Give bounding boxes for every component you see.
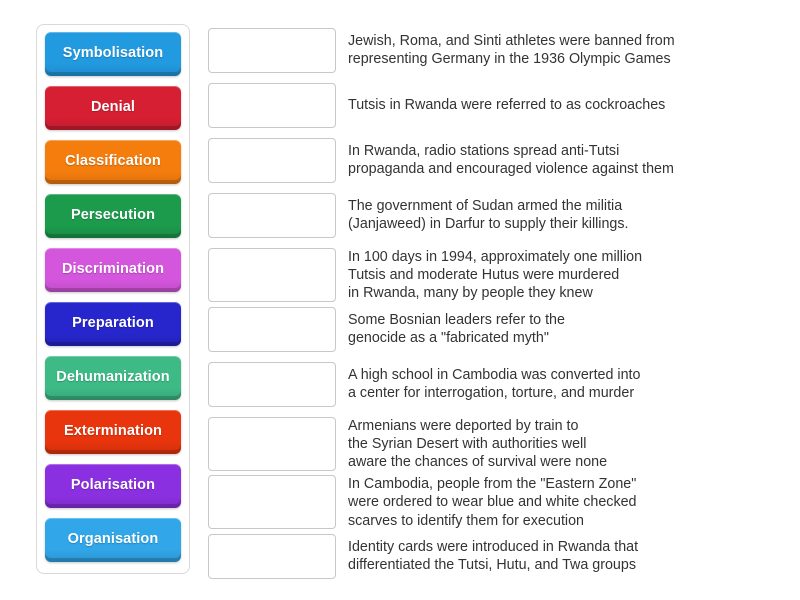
answer-row: In Cambodia, people from the "Eastern Zo… (208, 475, 768, 530)
tile-label: Organisation (65, 532, 162, 548)
prompt-text: Identity cards were introduced in Rwanda… (348, 534, 768, 574)
answer-rows-panel: Jewish, Roma, and Sinti athletes were ba… (208, 28, 768, 579)
tile-draggable[interactable]: Denial (45, 86, 181, 130)
dropzone[interactable] (208, 534, 336, 579)
tile-draggable[interactable]: Organisation (45, 518, 181, 562)
tile-label: Symbolisation (60, 46, 166, 62)
tiles-panel: Symbolisation Denial Classification Pers… (36, 24, 190, 574)
tile-draggable[interactable]: Symbolisation (45, 32, 181, 76)
dropzone[interactable] (208, 248, 336, 302)
tile-draggable[interactable]: Classification (45, 140, 181, 184)
answer-row: Some Bosnian leaders refer to the genoci… (208, 307, 768, 352)
dropzone[interactable] (208, 362, 336, 407)
dropzone[interactable] (208, 138, 336, 183)
tile-label: Dehumanization (53, 370, 172, 386)
dropzone[interactable] (208, 28, 336, 73)
prompt-text: The government of Sudan armed the militi… (348, 193, 768, 233)
answer-row: Jewish, Roma, and Sinti athletes were ba… (208, 28, 768, 73)
dropzone[interactable] (208, 307, 336, 352)
tile-draggable[interactable]: Extermination (45, 410, 181, 454)
tile-label: Persecution (68, 208, 158, 224)
answer-row: Armenians were deported by train to the … (208, 417, 768, 472)
answer-row: The government of Sudan armed the militi… (208, 193, 768, 238)
prompt-text: In Cambodia, people from the "Eastern Zo… (348, 475, 768, 530)
tile-label: Extermination (61, 424, 165, 440)
activity-stage: Symbolisation Denial Classification Pers… (0, 0, 800, 600)
answer-row: Tutsis in Rwanda were referred to as coc… (208, 83, 768, 128)
tile-draggable[interactable]: Polarisation (45, 464, 181, 508)
answer-row: In Rwanda, radio stations spread anti-Tu… (208, 138, 768, 183)
prompt-text: In 100 days in 1994, approximately one m… (348, 248, 768, 303)
tile-label: Discrimination (59, 262, 167, 278)
answer-row: A high school in Cambodia was converted … (208, 362, 768, 407)
answer-row: In 100 days in 1994, approximately one m… (208, 248, 768, 303)
answer-row: Identity cards were introduced in Rwanda… (208, 534, 768, 579)
prompt-text: In Rwanda, radio stations spread anti-Tu… (348, 138, 768, 178)
dropzone[interactable] (208, 475, 336, 529)
tile-label: Polarisation (68, 478, 158, 494)
tile-label: Classification (62, 154, 164, 170)
dropzone[interactable] (208, 193, 336, 238)
dropzone[interactable] (208, 83, 336, 128)
prompt-text: Tutsis in Rwanda were referred to as coc… (348, 83, 768, 114)
tile-draggable[interactable]: Dehumanization (45, 356, 181, 400)
prompt-text: A high school in Cambodia was converted … (348, 362, 768, 402)
tile-draggable[interactable]: Persecution (45, 194, 181, 238)
tile-label: Preparation (69, 316, 157, 332)
tile-draggable[interactable]: Preparation (45, 302, 181, 346)
prompt-text: Some Bosnian leaders refer to the genoci… (348, 307, 768, 347)
tile-draggable[interactable]: Discrimination (45, 248, 181, 292)
dropzone[interactable] (208, 417, 336, 471)
prompt-text: Jewish, Roma, and Sinti athletes were ba… (348, 28, 768, 68)
tile-label: Denial (88, 100, 138, 116)
prompt-text: Armenians were deported by train to the … (348, 417, 768, 472)
